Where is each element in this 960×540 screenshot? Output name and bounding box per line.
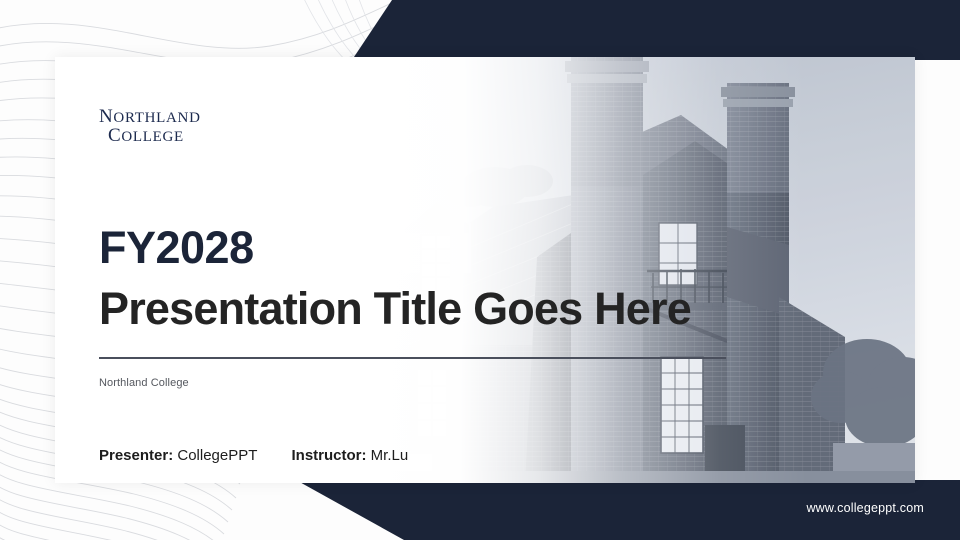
instructor-value: Mr.Lu (371, 447, 409, 464)
logo-cap-c: C (108, 125, 121, 146)
logo-line-northland: NORTHLAND (99, 107, 201, 126)
navy-top-wedge (0, 0, 960, 60)
credits-line: Presenter: CollegePPT Instructor: Mr.Lu (99, 447, 408, 464)
logo-rest-ollege: OLLEGE (121, 129, 184, 145)
logo-rest-orthland: ORTHLAND (113, 110, 200, 126)
fiscal-year-heading: FY2028 (99, 225, 254, 270)
presenter-label: Presenter: (99, 447, 173, 464)
presentation-slide: NORTHLAND COLLEGE FY2028 Presentation Ti… (0, 0, 960, 540)
organization-name: Northland College (99, 377, 189, 389)
logo-cap-n: N (99, 106, 113, 127)
building-photo (375, 57, 915, 483)
instructor-label: Instructor: (292, 447, 367, 464)
slide-content-card: NORTHLAND COLLEGE FY2028 Presentation Ti… (55, 57, 915, 483)
logo-line-college: COLLEGE (99, 126, 201, 145)
northland-college-logo: NORTHLAND COLLEGE (99, 107, 201, 146)
presenter-value: CollegePPT (177, 447, 257, 464)
title-divider (99, 357, 726, 359)
page-title: Presentation Title Goes Here (99, 286, 691, 331)
footer-website-url[interactable]: www.collegeppt.com (806, 501, 924, 515)
